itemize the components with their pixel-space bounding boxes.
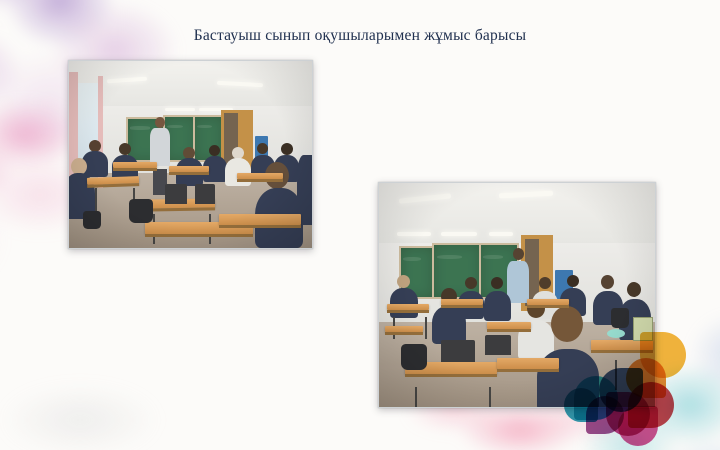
classroom-photo-front-view[interactable] bbox=[68, 60, 313, 249]
presentation-slide: Бастауыш сынып оқушыларымен жұмыс барысы bbox=[0, 0, 720, 450]
bottom-left-grey-wash bbox=[0, 360, 190, 450]
photo-vignette bbox=[69, 61, 312, 248]
photo-1-scene bbox=[69, 61, 312, 248]
photo-2-scene bbox=[379, 183, 655, 407]
classroom-photo-side-view[interactable] bbox=[378, 182, 656, 408]
slide-title: Бастауыш сынып оқушыларымен жұмыс барысы bbox=[0, 27, 720, 45]
petal-pink-icon bbox=[618, 406, 658, 446]
photo-vignette bbox=[379, 183, 655, 407]
